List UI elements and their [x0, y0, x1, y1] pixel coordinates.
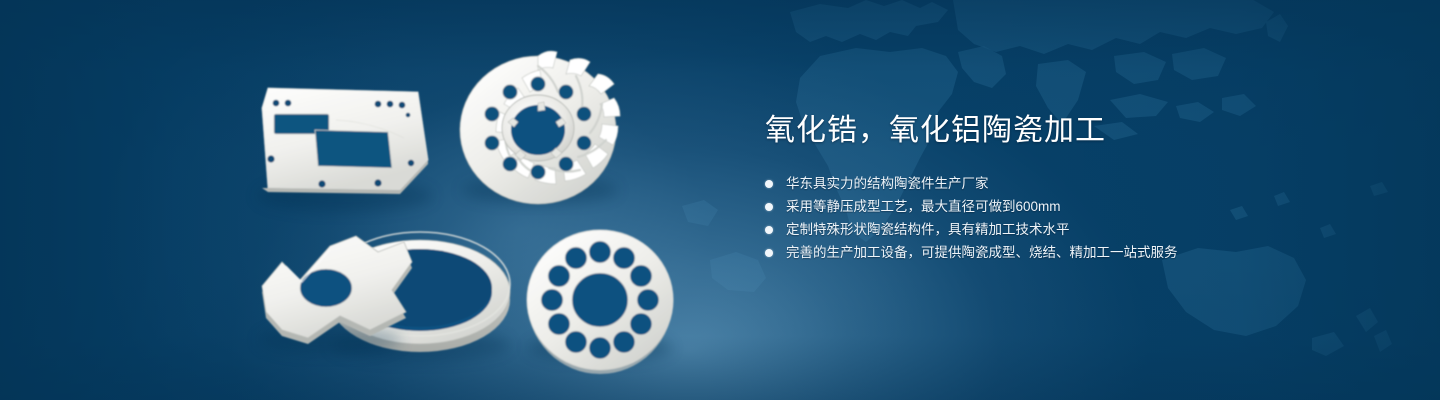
- bullet-dot-icon: [765, 203, 773, 211]
- feature-text: 定制特殊形状陶瓷结构件，具有精加工技术水平: [786, 218, 1070, 241]
- bullet-dot-icon: [765, 249, 773, 257]
- list-item: 采用等静压成型工艺，最大直径可做到600mm: [765, 195, 1385, 218]
- product-photo-group: [0, 0, 740, 400]
- banner-headline: 氧化锆，氧化铝陶瓷加工: [765, 112, 1385, 150]
- bullet-dot-icon: [765, 180, 773, 188]
- product-ceramic-mounting-plate: [257, 88, 433, 212]
- banner-copy: 氧化锆，氧化铝陶瓷加工 华东具实力的结构陶瓷件生产厂家 采用等静压成型工艺，最大…: [765, 112, 1385, 264]
- list-item: 定制特殊形状陶瓷结构件，具有精加工技术水平: [765, 218, 1385, 241]
- list-item: 完善的生产加工设备，可提供陶瓷成型、烧结、精加工一站式服务: [765, 241, 1385, 264]
- feature-text: 完善的生产加工设备，可提供陶瓷成型、烧结、精加工一站式服务: [786, 241, 1178, 264]
- bullet-dot-icon: [765, 226, 773, 234]
- feature-text: 采用等静压成型工艺，最大直径可做到600mm: [786, 195, 1061, 218]
- product-ceramic-cross-plate: [258, 236, 412, 355]
- banner-feature-list: 华东具实力的结构陶瓷件生产厂家 采用等静压成型工艺，最大直径可做到600mm 定…: [765, 172, 1385, 264]
- product-ceramic-impeller: [460, 51, 620, 204]
- product-ceramic-perforated-disc: [527, 230, 673, 374]
- feature-text: 华东具实力的结构陶瓷件生产厂家: [786, 172, 989, 195]
- list-item: 华东具实力的结构陶瓷件生产厂家: [765, 172, 1385, 195]
- hero-banner: 氧化锆，氧化铝陶瓷加工 华东具实力的结构陶瓷件生产厂家 采用等静压成型工艺，最大…: [0, 0, 1440, 400]
